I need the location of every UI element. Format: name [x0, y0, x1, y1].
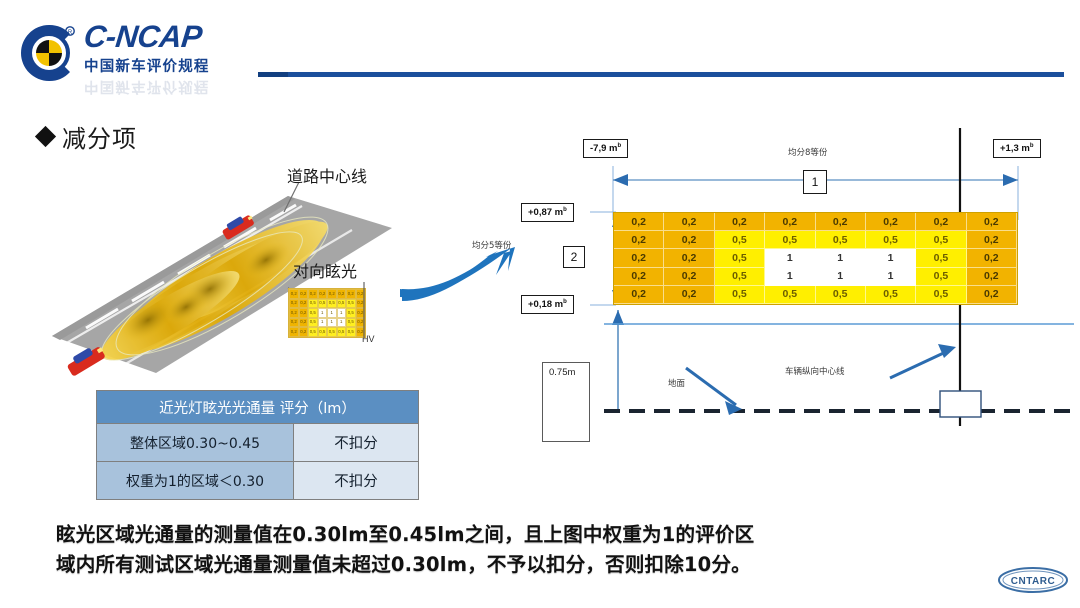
header-rule-accent — [258, 72, 288, 77]
grid-cell-r4-c5: 1 — [816, 268, 866, 286]
mini-grid-cell-r3-c7: 0,5 — [346, 308, 356, 318]
grid-cell-r4-c7: 0,5 — [916, 268, 966, 286]
mini-grid-cell-r4-c4: 1 — [318, 318, 328, 328]
oncoming-glare-label: 对向眩光 — [293, 258, 357, 282]
mini-grid-cell-r4-c5: 1 — [327, 318, 337, 328]
mini-grid-cell-r5-c3: 0,5 — [308, 327, 318, 337]
mini-measurement-grid: 0,20,20,20,20,20,20,20,20,20,20,50,50,50… — [288, 288, 366, 338]
grid-cell-r3-c4: 1 — [765, 249, 815, 267]
table-row: 权重为1的区域＜0.30 不扣分 — [96, 462, 419, 500]
grid-cell-r4-c8: 0,2 — [967, 268, 1017, 286]
mini-grid-cell-r2-c3: 0,5 — [308, 299, 318, 309]
slide-root: R C-NCAP 中国新车评价规程 中国新车评价规程 减分项 — [0, 0, 1080, 608]
mini-grid-cell-r2-c2: 0,2 — [299, 299, 309, 309]
grid-cell-r2-c5: 0,5 — [816, 231, 866, 249]
grid-cell-r3-c5: 1 — [816, 249, 866, 267]
measurement-grid: 0,20,20,20,20,20,20,20,20,20,20,50,50,50… — [613, 212, 1018, 305]
grid-cell-r3-c1: 0,2 — [614, 249, 664, 267]
mini-grid-cell-r1-c7: 0,2 — [346, 289, 356, 299]
mini-grid-cell-r3-c1: 0,2 — [289, 308, 299, 318]
grid-cell-r3-c7: 0,5 — [916, 249, 966, 267]
section-title-label: 减分项 — [62, 119, 137, 154]
grid-cell-r2-c3: 0,5 — [715, 231, 765, 249]
grid-cell-r1-c8: 0,2 — [967, 213, 1017, 231]
mini-grid-cell-r5-c2: 0,2 — [299, 327, 309, 337]
header-rule — [258, 72, 1064, 77]
road-centerline-label: 道路中心线 — [287, 163, 367, 187]
cntarc-watermark-icon: CNTARC — [996, 565, 1070, 595]
section-title: 减分项 — [38, 119, 137, 154]
dimension-label-horizontal: 1 — [803, 170, 827, 194]
callout-right-x: +1,3 mb — [993, 139, 1041, 158]
cncap-wordmark: C-NCAP — [82, 20, 211, 54]
grid-cell-r5-c2: 0,2 — [664, 286, 714, 304]
grid-cell-r1-c1: 0,2 — [614, 213, 664, 231]
grid-cell-r5-c7: 0,5 — [916, 286, 966, 304]
grid-cell-r5-c8: 0,2 — [967, 286, 1017, 304]
mini-grid-cell-r1-c4: 0,2 — [318, 289, 328, 299]
cncap-logo-mark: R — [18, 22, 80, 84]
callout-top-y: +0,87 mb — [521, 203, 574, 222]
cncap-subtitle: 中国新车评价规程 — [84, 55, 210, 76]
mini-grid-cell-r2-c5: 0,5 — [327, 299, 337, 309]
grid-cell-r1-c4: 0,2 — [765, 213, 815, 231]
caption-text: 眩光区域光通量的测量值在0.30lm至0.45lm之间，且上图中权重为1的评价区… — [56, 520, 1016, 580]
cncap-logo: R C-NCAP 中国新车评价规程 中国新车评价规程 — [18, 18, 248, 108]
mini-grid-cell-r2-c4: 0,5 — [318, 299, 328, 309]
mini-grid-cell-r4-c2: 0,2 — [299, 318, 309, 328]
grid-cell-r2-c6: 0,5 — [866, 231, 916, 249]
caption-line-1: 眩光区域光通量的测量值在0.30lm至0.45lm之间，且上图中权重为1的评价区 — [56, 520, 1016, 550]
grid-cell-r4-c1: 0,2 — [614, 268, 664, 286]
callout-bottom-y: +0,18 mb — [521, 295, 574, 314]
mini-grid-vertical-axis — [361, 282, 367, 338]
caption-line-2: 域内所有测试区域光通量测量值未超过0.30lm，不予以扣分，否则扣除10分。 — [56, 550, 1016, 580]
scoring-result: 不扣分 — [294, 424, 419, 462]
grid-cell-r3-c2: 0,2 — [664, 249, 714, 267]
grid-cell-r5-c1: 0,2 — [614, 286, 664, 304]
mini-grid-cell-r1-c2: 0,2 — [299, 289, 309, 299]
grid-cell-r3-c3: 0,5 — [715, 249, 765, 267]
mini-grid-cell-r4-c7: 0,5 — [346, 318, 356, 328]
mini-grid-cell-r4-c3: 0,5 — [308, 318, 318, 328]
mini-grid-cell-r1-c1: 0,2 — [289, 289, 299, 299]
mini-grid-cell-r5-c7: 0,5 — [346, 327, 356, 337]
grid-cell-r3-c8: 0,2 — [967, 249, 1017, 267]
grid-cell-r1-c5: 0,2 — [816, 213, 866, 231]
mini-grid-cell-r1-c6: 0,2 — [337, 289, 347, 299]
grid-cell-r2-c4: 0,5 — [765, 231, 815, 249]
transition-arrow-icon — [400, 245, 515, 311]
grid-cell-r3-c6: 1 — [866, 249, 916, 267]
avg8-label: 均分8等份 — [788, 146, 827, 158]
mini-grid-cell-r4-c6: 1 — [337, 318, 347, 328]
mini-grid-cell-r2-c6: 0,5 — [337, 299, 347, 309]
scoring-table: 近光灯眩光光通量 评分（lm） 整体区域0.30~0.45 不扣分 权重为1的区… — [96, 390, 419, 501]
scoring-result: 不扣分 — [294, 462, 419, 500]
grid-cell-r5-c3: 0,5 — [715, 286, 765, 304]
cncap-logo-text: C-NCAP 中国新车评价规程 中国新车评价规程 — [84, 20, 210, 98]
scoring-condition: 整体区域0.30~0.45 — [96, 424, 294, 462]
mini-grid-cell-r1-c3: 0,2 — [308, 289, 318, 299]
height-box: 0.75m — [542, 362, 590, 442]
grid-cell-r5-c4: 0,5 — [765, 286, 815, 304]
mini-grid-cell-r2-c1: 0,2 — [289, 299, 299, 309]
diamond-bullet-icon — [35, 126, 56, 147]
table-row: 整体区域0.30~0.45 不扣分 — [96, 424, 419, 462]
mini-grid-cell-r3-c4: 1 — [318, 308, 328, 318]
grid-cell-r1-c2: 0,2 — [664, 213, 714, 231]
vehicle-centerline-label: 车辆纵向中心线 — [785, 365, 845, 377]
scoring-condition: 权重为1的区域＜0.30 — [96, 462, 294, 500]
mini-grid-cell-r3-c6: 1 — [337, 308, 347, 318]
grid-cell-r4-c2: 0,2 — [664, 268, 714, 286]
mini-grid-cell-r5-c4: 0,5 — [318, 327, 328, 337]
svg-text:R: R — [68, 30, 73, 36]
grid-cell-r5-c6: 0,5 — [866, 286, 916, 304]
mini-grid-cell-r3-c5: 1 — [327, 308, 337, 318]
svg-text:CNTARC: CNTARC — [1011, 576, 1055, 587]
grid-cell-r1-c7: 0,2 — [916, 213, 966, 231]
dimension-label-vertical: 2 — [563, 246, 585, 268]
grid-cell-r2-c7: 0,5 — [916, 231, 966, 249]
callout-left-x: -7,9 mb — [583, 139, 628, 158]
cncap-subtitle-reflection: 中国新车评价规程 — [84, 77, 210, 98]
mini-grid-cell-r5-c1: 0,2 — [289, 327, 299, 337]
mini-grid-cell-r5-c6: 0,5 — [337, 327, 347, 337]
mini-grid-cell-r4-c1: 0,2 — [289, 318, 299, 328]
mini-grid-cell-r3-c2: 0,2 — [299, 308, 309, 318]
mini-grid-cell-r2-c7: 0,5 — [346, 299, 356, 309]
grid-cell-r2-c1: 0,2 — [614, 231, 664, 249]
mini-grid-cell-r1-c5: 0,2 — [327, 289, 337, 299]
grid-cell-r2-c2: 0,2 — [664, 231, 714, 249]
mini-grid-cell-r5-c5: 0,5 — [327, 327, 337, 337]
grid-cell-r2-c8: 0,2 — [967, 231, 1017, 249]
grid-cell-r4-c6: 1 — [866, 268, 916, 286]
mini-grid-cell-r3-c3: 0,5 — [308, 308, 318, 318]
grid-cell-r1-c6: 0,2 — [866, 213, 916, 231]
grid-cell-r5-c5: 0,5 — [816, 286, 866, 304]
scoring-table-header: 近光灯眩光光通量 评分（lm） — [96, 390, 419, 424]
grid-cell-r4-c3: 0,5 — [715, 268, 765, 286]
ground-label: 地面 — [668, 377, 685, 389]
grid-cell-r4-c4: 1 — [765, 268, 815, 286]
grid-cell-r1-c3: 0,2 — [715, 213, 765, 231]
